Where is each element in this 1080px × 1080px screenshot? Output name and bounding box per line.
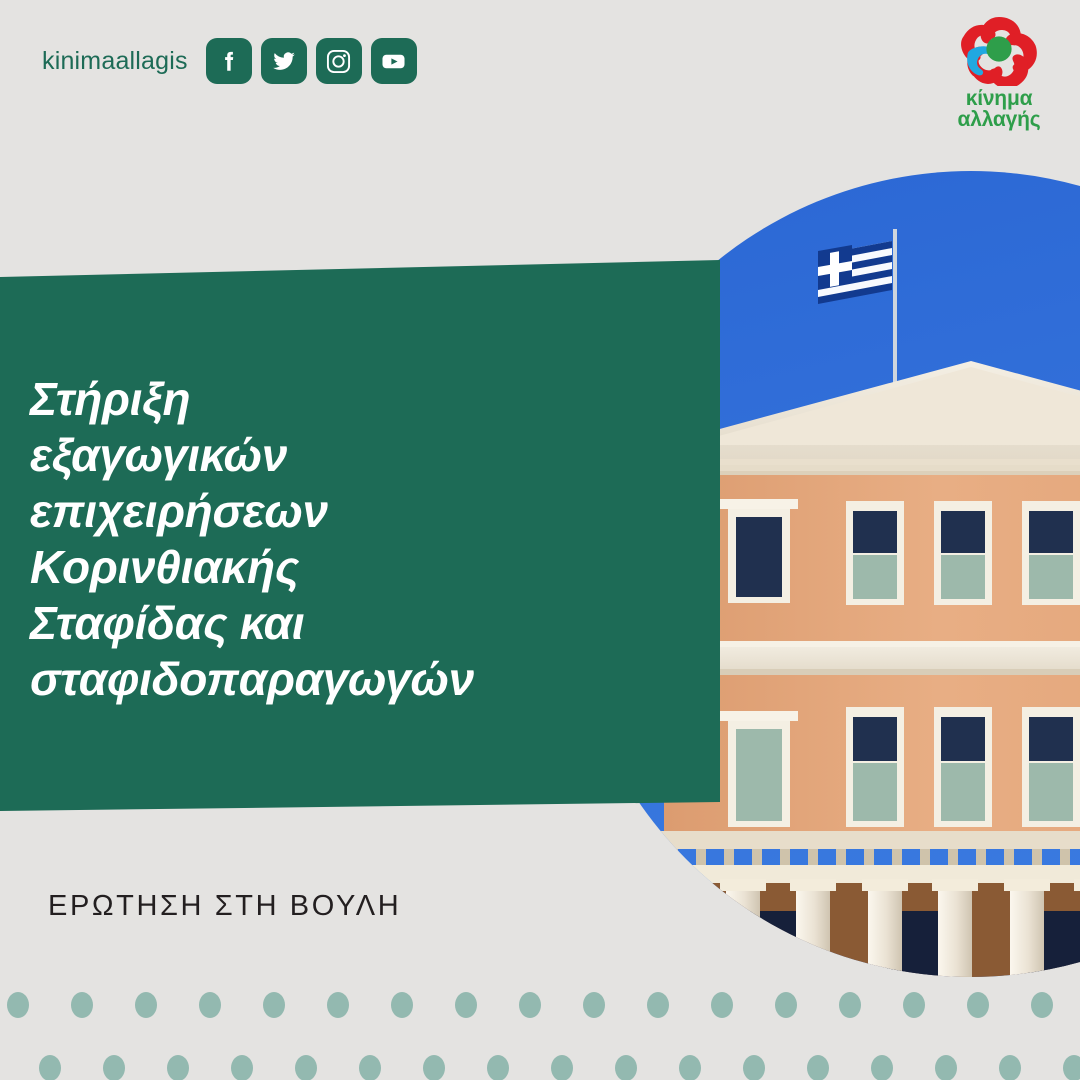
headline-line-5: Σταφίδας και — [30, 595, 670, 651]
instagram-icon[interactable] — [316, 38, 362, 84]
headline-line-1: Στήριξη — [30, 371, 670, 427]
columns — [664, 883, 1080, 977]
facebook-icon[interactable] — [206, 38, 252, 84]
headline-line-4: Κορινθιακής — [30, 539, 670, 595]
lower-windows — [720, 707, 1080, 827]
caption-label: ΕΡΩΤΗΣΗ ΣΤΗ ΒΟΥΛΗ — [48, 890, 401, 923]
social-handle: kinimaallagis — [42, 47, 188, 76]
twitter-icon[interactable] — [261, 38, 307, 84]
logo-wordmark-line-2: αλλαγής — [940, 109, 1058, 130]
headline-line-6: σταφιδοπαραγωγών — [30, 651, 670, 707]
social-media-poster: kinimaallagis — [0, 0, 1080, 1080]
headline-line-2: εξαγωγικών — [30, 427, 670, 483]
dot-pattern — [0, 970, 1080, 1080]
youtube-icon[interactable] — [371, 38, 417, 84]
logo-wordmark: κίνημα αλλαγής — [940, 88, 1058, 131]
party-logo: κίνημα αλλαγής — [940, 14, 1058, 131]
social-header: kinimaallagis — [42, 30, 417, 92]
headline-line-3: επιχειρήσεων — [30, 483, 670, 539]
headline: Στήριξη εξαγωγικών επιχειρήσεων Κορινθια… — [30, 371, 670, 707]
logo-wordmark-line-1: κίνημα — [940, 88, 1058, 109]
upper-windows — [720, 499, 1080, 605]
kinima-allagis-rosette-icon — [957, 14, 1041, 86]
